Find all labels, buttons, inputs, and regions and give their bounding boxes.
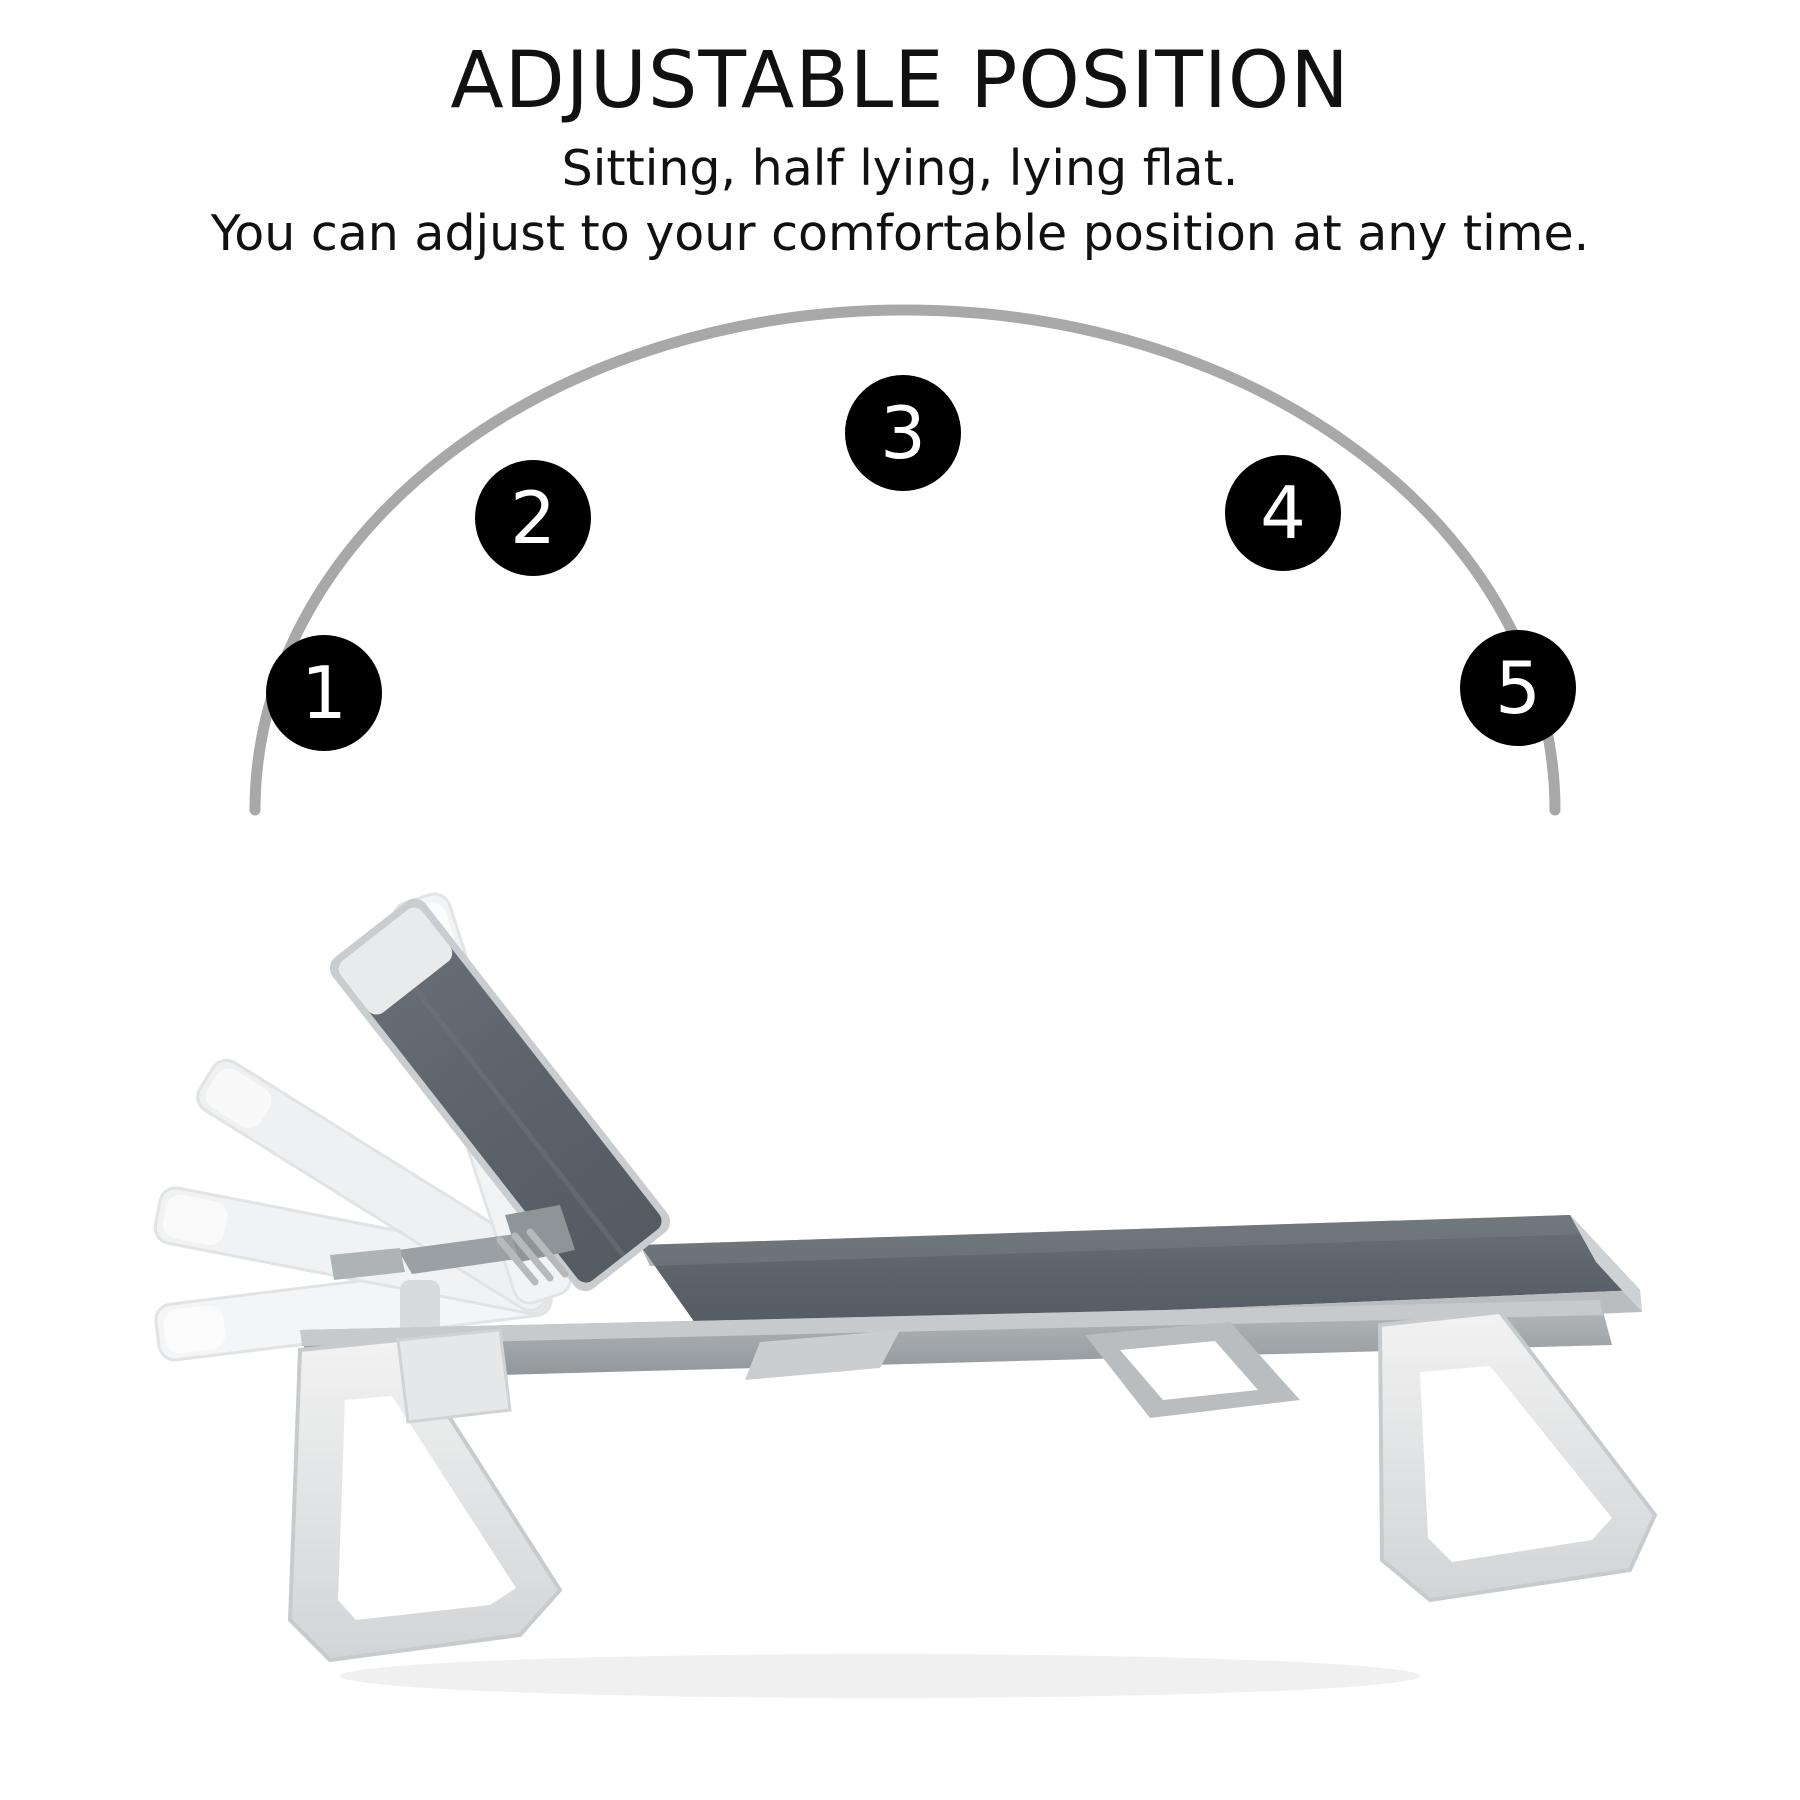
position-badge-2: 2 bbox=[475, 460, 591, 576]
under-foot bbox=[398, 1330, 510, 1422]
chaise-lounge-illustration bbox=[0, 0, 1800, 1800]
position-badge-4: 4 bbox=[1225, 455, 1341, 571]
position-badge-3: 3 bbox=[845, 375, 961, 491]
ground-shadow bbox=[340, 1654, 1420, 1698]
position-badge-5: 5 bbox=[1460, 630, 1576, 746]
image-canvas: ADJUSTABLE POSITION Sitting, half lying,… bbox=[0, 0, 1800, 1800]
position-badge-1: 1 bbox=[266, 635, 382, 751]
